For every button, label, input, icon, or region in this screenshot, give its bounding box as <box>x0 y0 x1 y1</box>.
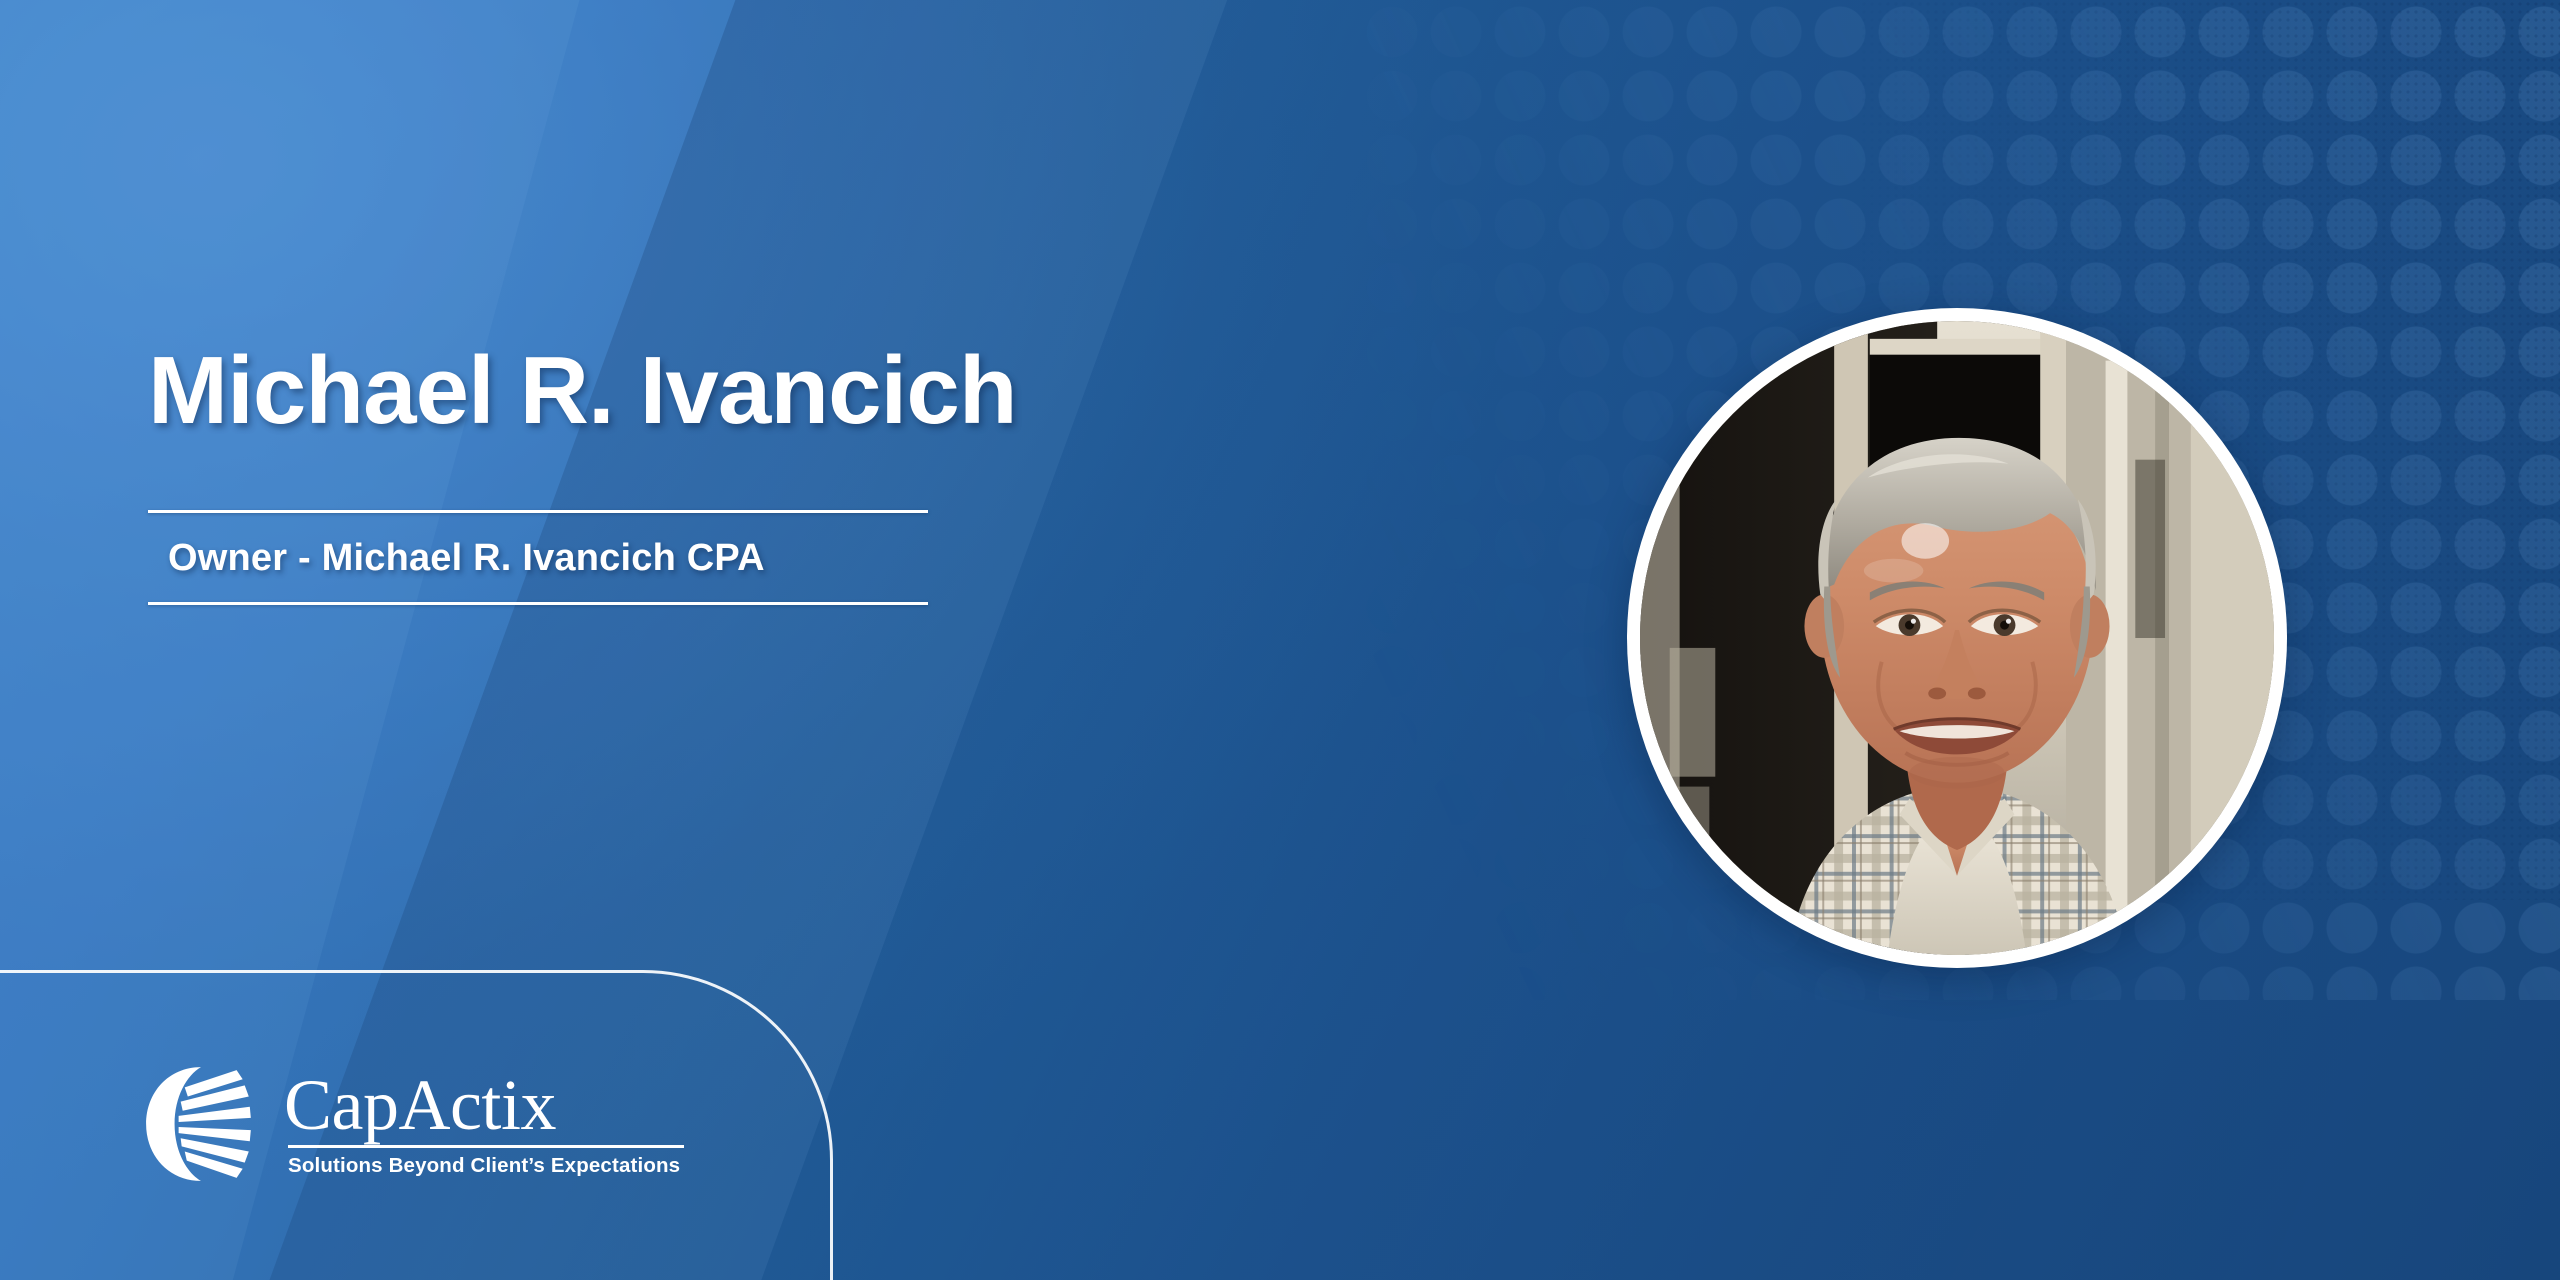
speaker-role: Owner - Michael R. Ivancich CPA <box>168 537 1448 580</box>
logo-wordmark: CapActix Solutions Beyond Client’s Expec… <box>284 1070 680 1178</box>
brand-name: CapActix <box>284 1070 680 1141</box>
logo-divider-line <box>288 1145 684 1148</box>
page-title: Michael R. Ivancich <box>148 340 1448 442</box>
speaker-announcement-slide: Michael R. Ivancich Owner - Michael R. I… <box>0 0 2560 1280</box>
capactix-logo: CapActix Solutions Beyond Client’s Expec… <box>140 1063 680 1185</box>
avatar-photo <box>1640 321 2274 955</box>
avatar <box>1627 308 2287 968</box>
portrait-illustration <box>1640 321 2274 955</box>
brand-tagline: Solutions Beyond Client’s Expectations <box>288 1154 680 1178</box>
divider-line-bottom <box>148 602 928 605</box>
fan-shell-icon <box>140 1063 262 1185</box>
speaker-role-row: Owner - Michael R. Ivancich CPA <box>148 513 1448 602</box>
speaker-text-block: Michael R. Ivancich Owner - Michael R. I… <box>148 340 1448 605</box>
